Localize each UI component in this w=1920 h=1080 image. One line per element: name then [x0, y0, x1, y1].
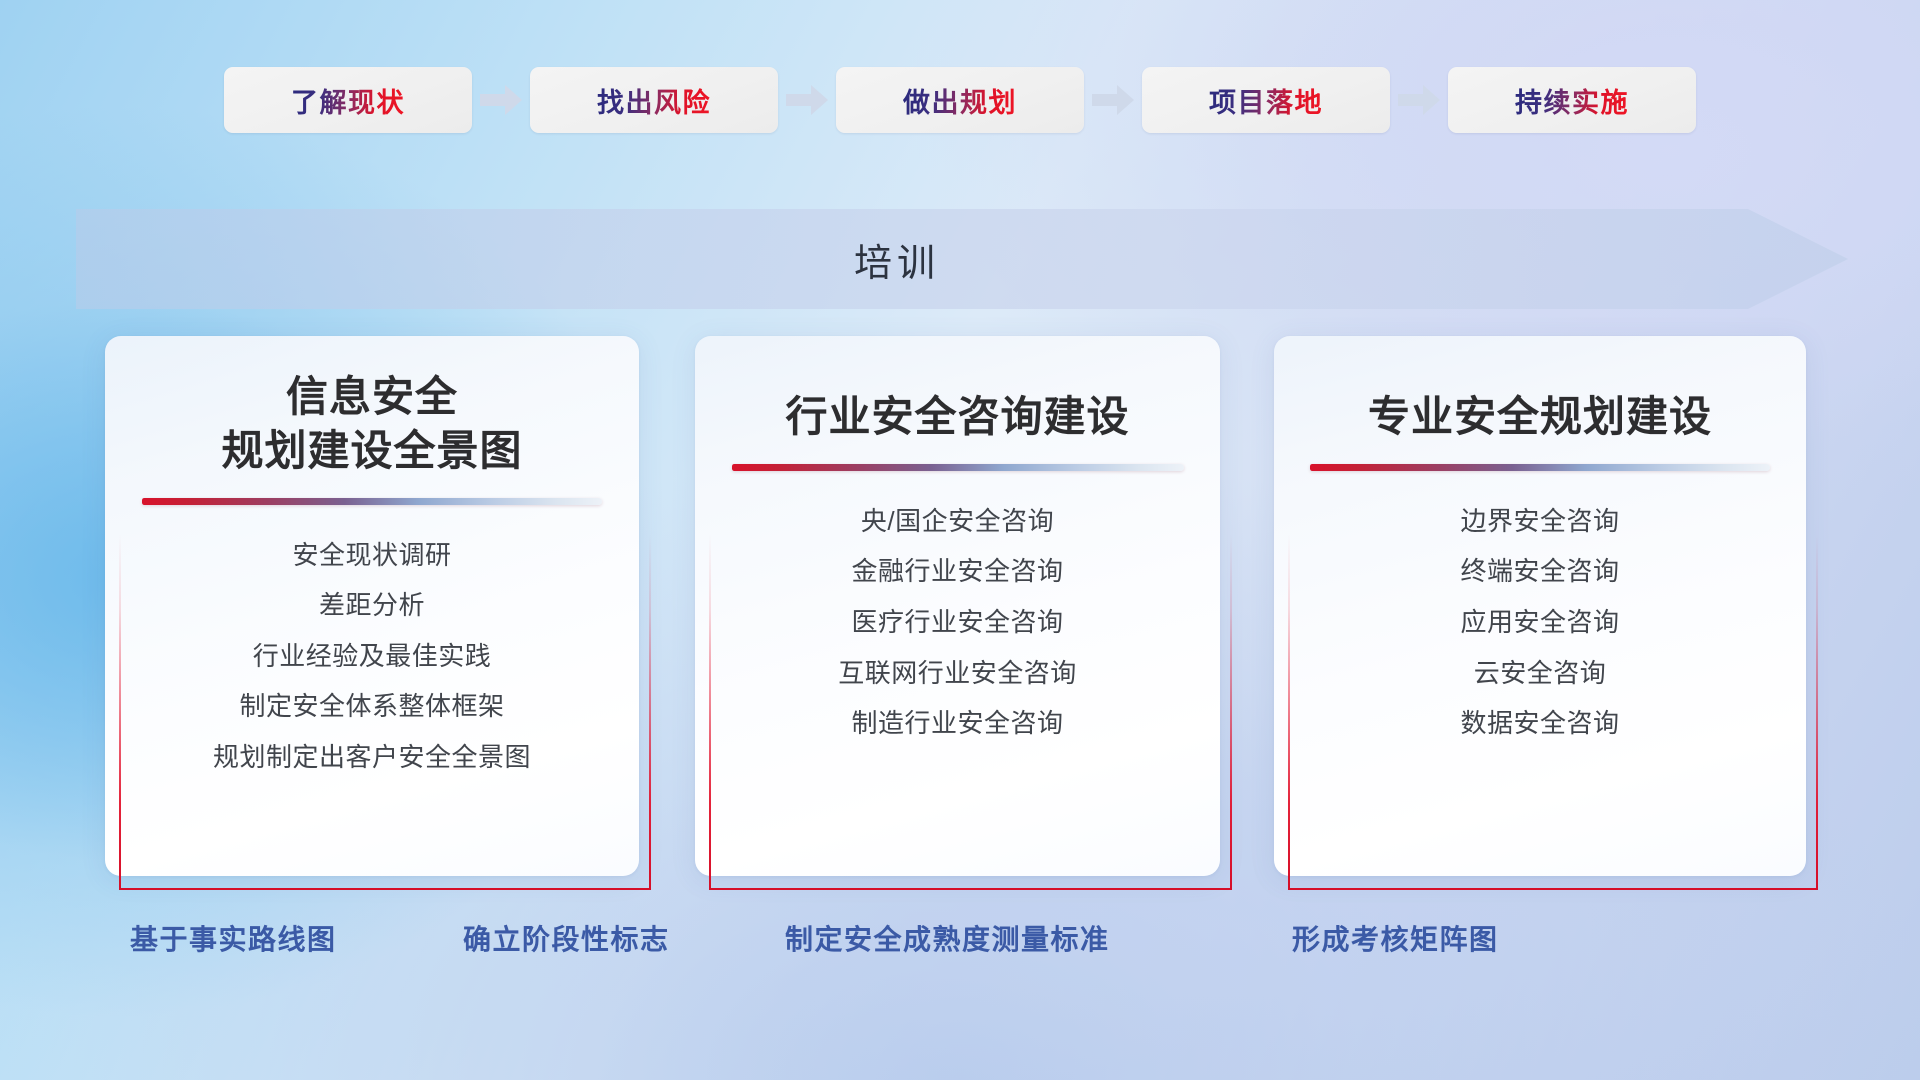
outcome-label: 制定安全成熟度测量标准: [785, 918, 1110, 958]
pipeline-step-label: 找出风险: [597, 81, 711, 120]
list-item: 终端安全咨询: [1460, 551, 1619, 593]
pipeline-step-3[interactable]: 做出规划: [836, 67, 1084, 133]
training-banner: 培训: [76, 209, 1848, 309]
banner-title: 培训: [76, 209, 1848, 309]
pipeline-step-2[interactable]: 找出风险: [530, 67, 778, 133]
list-item: 央/国企安全咨询: [861, 501, 1054, 543]
card-professional-security-planning[interactable]: 专业安全规划建设 边界安全咨询 终端安全咨询 应用安全咨询 云安全咨询 数据安全…: [1274, 336, 1806, 876]
list-item: 差距分析: [319, 585, 425, 627]
list-item: 制造行业安全咨询: [851, 703, 1063, 745]
card-title: 信息安全 规划建设全景图: [221, 370, 522, 478]
card-industry-security-consulting[interactable]: 行业安全咨询建设 央/国企安全咨询 金融行业安全咨询 医疗行业安全咨询 互联网行…: [695, 336, 1220, 876]
list-item: 行业经验及最佳实践: [253, 636, 492, 678]
card-item-list: 央/国企安全咨询 金融行业安全咨询 医疗行业安全咨询 互联网行业安全咨询 制造行…: [838, 501, 1077, 745]
list-item: 制定安全体系整体框架: [239, 686, 504, 728]
list-item: 规划制定出客户安全全景图: [213, 737, 531, 779]
pipeline-step-4[interactable]: 项目落地: [1142, 67, 1390, 133]
card-title: 专业安全规划建设: [1368, 390, 1712, 444]
card-divider: [732, 464, 1184, 471]
pipeline-step-label: 做出规划: [903, 81, 1017, 120]
arrow-right-icon: [1390, 67, 1448, 133]
pipeline-step-label: 持续实施: [1515, 81, 1629, 120]
outcome-label: 确立阶段性标志: [463, 918, 670, 958]
slide-canvas: 了解现状 找出风险 做出规划 项目落地: [0, 0, 1920, 1080]
arrow-right-icon: [778, 67, 836, 133]
list-item: 医疗行业安全咨询: [851, 602, 1063, 644]
list-item: 安全现状调研: [292, 535, 451, 577]
pipeline-step-1[interactable]: 了解现状: [224, 67, 472, 133]
pipeline-step-label: 了解现状: [291, 81, 405, 120]
list-item: 云安全咨询: [1474, 653, 1607, 695]
outcome-label: 形成考核矩阵图: [1292, 918, 1499, 958]
card-information-security-panorama[interactable]: 信息安全 规划建设全景图 安全现状调研 差距分析 行业经验及最佳实践 制定安全体…: [105, 336, 639, 876]
card-item-list: 边界安全咨询 终端安全咨询 应用安全咨询 云安全咨询 数据安全咨询: [1460, 501, 1619, 745]
list-item: 互联网行业安全咨询: [838, 653, 1077, 695]
card-divider: [142, 498, 602, 505]
outcome-label: 基于事实路线图: [130, 918, 337, 958]
process-pipeline: 了解现状 找出风险 做出规划 项目落地: [0, 58, 1920, 142]
pipeline-step-label: 项目落地: [1209, 81, 1323, 120]
card-row: 信息安全 规划建设全景图 安全现状调研 差距分析 行业经验及最佳实践 制定安全体…: [0, 336, 1920, 876]
card-divider: [1310, 464, 1770, 471]
pipeline-step-5[interactable]: 持续实施: [1448, 67, 1696, 133]
list-item: 边界安全咨询: [1460, 501, 1619, 543]
list-item: 金融行业安全咨询: [851, 551, 1063, 593]
list-item: 应用安全咨询: [1460, 602, 1619, 644]
arrow-right-icon: [472, 67, 530, 133]
outcome-label-row: 基于事实路线图 确立阶段性标志 制定安全成熟度测量标准 形成考核矩阵图: [0, 918, 1920, 972]
list-item: 数据安全咨询: [1460, 703, 1619, 745]
card-item-list: 安全现状调研 差距分析 行业经验及最佳实践 制定安全体系整体框架 规划制定出客户…: [213, 535, 531, 779]
card-title: 行业安全咨询建设: [785, 390, 1129, 444]
arrow-right-icon: [1084, 67, 1142, 133]
